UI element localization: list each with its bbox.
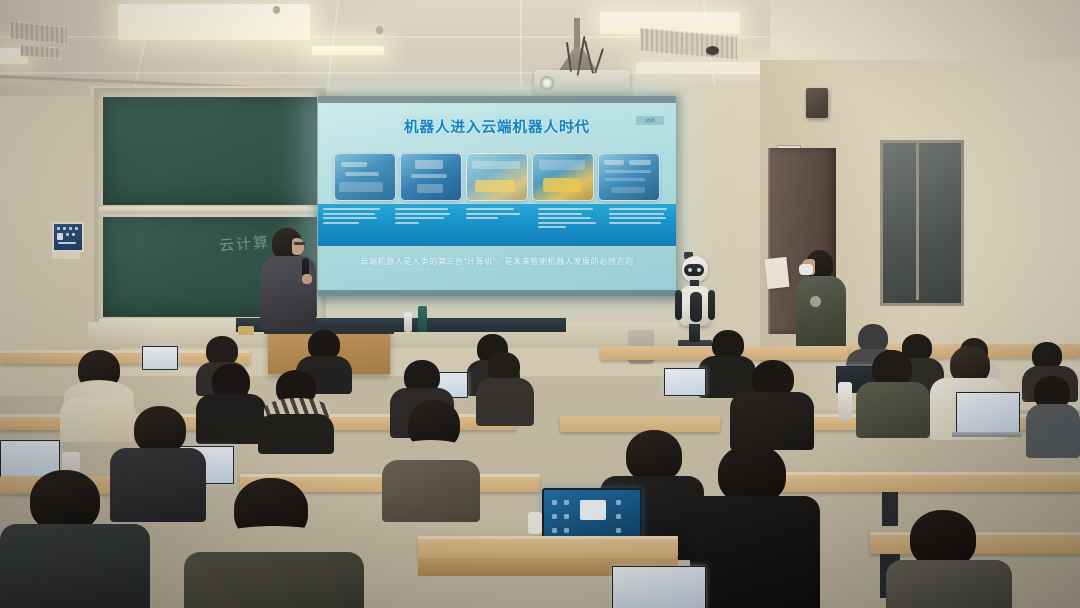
band-column xyxy=(533,204,605,246)
audience-member xyxy=(196,364,266,442)
audience-member xyxy=(730,360,814,448)
wall-control-panel[interactable] xyxy=(52,222,84,252)
band-column xyxy=(461,204,533,246)
slide-thumbnail xyxy=(466,153,528,201)
window-mullion xyxy=(916,140,919,300)
sprinkler-head xyxy=(273,6,280,13)
band-column xyxy=(390,204,462,246)
sprinkler-head xyxy=(376,26,383,33)
audience-member xyxy=(0,470,150,608)
slide-thumbnail xyxy=(532,153,594,201)
band-column xyxy=(604,204,676,246)
ceiling-light xyxy=(118,4,310,40)
slide-footer-text: 云端机器人是人类的第三台“计算机”，是未来智能机器人发展的必然方向 xyxy=(318,256,676,267)
audience-member xyxy=(856,350,930,436)
air-vent xyxy=(10,21,68,45)
slide-text-band xyxy=(318,204,676,246)
robot-chest-panel xyxy=(690,292,702,322)
lecture-hall-scene: 云计算 机器人进入云端机器人时代 达闼 xyxy=(0,0,1080,608)
ceiling-projector xyxy=(528,18,636,96)
audience-member xyxy=(1026,376,1080,456)
ceiling-light xyxy=(312,46,384,55)
audience-member xyxy=(258,370,334,450)
audience-member xyxy=(184,478,364,608)
presenter-face xyxy=(292,238,304,255)
robot-eye-icon xyxy=(697,268,701,272)
slide-thumbnail xyxy=(334,153,396,201)
slide-thumbnail xyxy=(400,153,462,201)
audience-member xyxy=(690,444,820,608)
smoke-detector-icon xyxy=(706,46,719,55)
robot-arm xyxy=(675,290,682,320)
chalk-eraser xyxy=(238,326,254,335)
presenter-glasses-icon xyxy=(294,242,305,245)
paper-notice xyxy=(764,257,789,289)
presenter-hand xyxy=(302,274,312,284)
water-bottle xyxy=(404,312,412,332)
jacket-logo xyxy=(810,296,821,307)
wall-speaker xyxy=(806,88,828,118)
band-column xyxy=(318,204,390,246)
face-mask-icon xyxy=(799,264,813,275)
slide-thumbnail-row xyxy=(334,153,660,199)
slide-title: 机器人进入云端机器人时代 xyxy=(318,116,676,137)
wall-panel-label xyxy=(52,252,80,259)
screen-top-bar xyxy=(318,96,676,103)
projector-lens xyxy=(540,76,554,90)
projection-screen: 机器人进入云端机器人时代 达闼 xyxy=(318,96,676,296)
screen-bottom-bar xyxy=(318,290,676,296)
audience-member xyxy=(886,510,1012,608)
presenter xyxy=(258,228,320,330)
standing-person xyxy=(796,250,848,358)
audience-member xyxy=(382,400,480,518)
slide-thumbnail xyxy=(598,153,660,201)
audience-member xyxy=(476,352,534,424)
robot-eye-icon xyxy=(688,268,692,272)
thermos-bottle xyxy=(418,306,427,332)
robot-arm xyxy=(708,290,715,320)
slide-logo: 达闼 xyxy=(636,116,664,125)
window xyxy=(880,140,964,306)
robot-visor xyxy=(684,264,704,276)
water-bottle xyxy=(838,382,852,420)
